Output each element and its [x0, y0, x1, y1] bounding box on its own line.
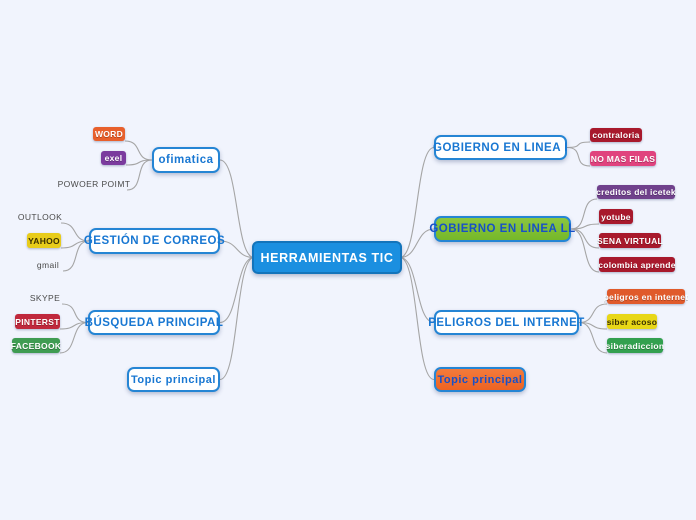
leaf-tag-creditos-del-icetek[interactable]: creditos del icetek	[597, 185, 675, 199]
leaf-tag-no-mas-filas[interactable]: NO MAS FILAS	[590, 151, 656, 166]
leaf-tag-gmail[interactable]: gmail	[33, 258, 63, 271]
leaf-tag-facebook[interactable]: FACEBOOK	[12, 338, 60, 353]
leaf-tag-word[interactable]: WORD	[93, 127, 125, 141]
leaf-tag-label: siberadiccion	[606, 341, 665, 351]
topic-node-gestion-de-correos[interactable]: GESTIÓN DE CORREOS	[89, 228, 220, 254]
leaf-tag-label: SKYPE	[30, 293, 60, 303]
leaf-tag-outlook[interactable]: OUTLOOK	[19, 210, 61, 223]
leaf-tag-label: peligros en internet	[604, 292, 689, 302]
leaf-tag-label: OUTLOOK	[18, 212, 62, 222]
leaf-tag-powoer-poimt[interactable]: POWOER POIMT	[61, 177, 127, 190]
root-node-herramientas-tic[interactable]: HERRAMIENTAS TIC	[252, 241, 402, 274]
leaf-tag-colombia-aprende[interactable]: colombia aprende	[599, 257, 675, 272]
leaf-tag-yotube[interactable]: yotube	[599, 209, 633, 224]
topic-node-label: Topic principal	[438, 374, 523, 386]
leaf-tag-label: POWOER POIMT	[58, 179, 131, 189]
topic-node-label: ofimatica	[159, 154, 214, 166]
topic-node-busqueda-principal[interactable]: BÚSQUEDA PRINCIPAL	[88, 310, 220, 335]
topic-node-label: BÚSQUEDA PRINCIPAL	[85, 317, 224, 329]
topic-node-label: GESTIÓN DE CORREOS	[84, 235, 225, 247]
leaf-tag-exel[interactable]: exel	[101, 151, 126, 165]
leaf-tag-label: contraloria	[592, 130, 639, 140]
leaf-tag-peligros-en-internet[interactable]: peligros en internet	[607, 289, 685, 304]
leaf-tag-pinterst[interactable]: PINTERST	[15, 314, 60, 329]
leaf-tag-label: PINTERST	[15, 317, 59, 327]
leaf-tag-label: creditos del icetek	[596, 187, 676, 197]
leaf-tag-label: NO MAS FILAS	[591, 154, 656, 164]
leaf-tag-label: WORD	[95, 129, 123, 139]
leaf-tag-label: exel	[105, 153, 123, 163]
topic-node-label: GOBIERNO EN LINEA I	[433, 142, 568, 154]
topic-node-peligros-del-internet[interactable]: PELIGROS DEL INTERNET	[434, 310, 579, 335]
leaf-tag-label: YAHOO	[28, 236, 60, 246]
leaf-tag-label: FACEBOOK	[11, 341, 62, 351]
topic-node-label: PELIGROS DEL INTERNET	[428, 317, 585, 329]
leaf-tag-label: colombia aprende	[598, 260, 676, 270]
mindmap-canvas: HERRAMIENTAS TIC ofimatica WORD exel POW…	[0, 0, 696, 520]
leaf-tag-siber-acoso[interactable]: siber acoso	[607, 314, 657, 329]
topic-node-label: Topic principal	[131, 374, 216, 386]
leaf-tag-label: siber acoso	[607, 317, 658, 327]
leaf-tag-label: SENA VIRTUAL	[597, 236, 663, 246]
leaf-tag-label: gmail	[37, 260, 59, 270]
leaf-tag-sena-virtual[interactable]: SENA VIRTUAL	[599, 233, 661, 248]
root-node-label: HERRAMIENTAS TIC	[261, 251, 394, 265]
topic-node-left-topic-principal[interactable]: Topic principal	[127, 367, 220, 392]
leaf-tag-siberadiccion[interactable]: siberadiccion	[607, 338, 663, 353]
leaf-tag-label: yotube	[601, 212, 631, 222]
topic-node-gobierno-en-linea-ll[interactable]: GOBIERNO EN LINEA LL	[434, 216, 571, 242]
topic-node-label: GOBIERNO EN LINEA LL	[429, 223, 575, 235]
leaf-tag-skype[interactable]: SKYPE	[28, 291, 62, 304]
topic-node-ofimatica[interactable]: ofimatica	[152, 147, 220, 173]
topic-node-gobierno-en-linea-i[interactable]: GOBIERNO EN LINEA I	[434, 135, 567, 160]
leaf-tag-contraloria[interactable]: contraloria	[590, 128, 642, 142]
leaf-tag-yahoo[interactable]: YAHOO	[27, 233, 61, 248]
topic-node-right-topic-principal[interactable]: Topic principal	[434, 367, 526, 392]
